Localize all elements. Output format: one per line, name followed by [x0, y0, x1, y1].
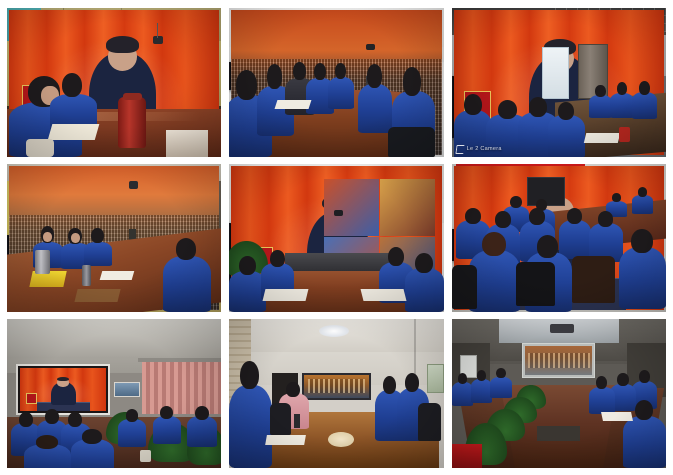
- table-papers: [100, 271, 135, 280]
- photo-5-scene: [229, 164, 443, 313]
- person-left-1: [452, 373, 473, 406]
- cup: [140, 450, 151, 462]
- screen-camera: [334, 210, 343, 216]
- person-back-4: [548, 102, 584, 157]
- photo-collage: Le 2 Camera 主体责任: [0, 0, 673, 475]
- microphone: [294, 414, 300, 427]
- photo-tile-3[interactable]: Le 2 Camera: [452, 8, 666, 157]
- photo-2-scene: [229, 8, 443, 157]
- person-left-2: [471, 370, 492, 403]
- photo-tile-5[interactable]: [229, 164, 443, 313]
- camera-mount: [157, 23, 158, 38]
- photo-tile-8[interactable]: [229, 319, 443, 468]
- photo-tile-6[interactable]: [452, 164, 666, 313]
- table-papers: [265, 435, 305, 445]
- table-tray: [74, 289, 120, 302]
- thermos-flask: [118, 97, 146, 148]
- photo-tile-7[interactable]: [7, 319, 221, 468]
- photo-7-scene: [7, 319, 221, 468]
- person-right-2: [405, 253, 444, 312]
- photo-8-scene: [229, 319, 443, 468]
- thermos-flask: [35, 250, 50, 274]
- chair-right: [388, 127, 435, 157]
- photo-4-scene: 主体责任: [7, 164, 221, 313]
- cup: [26, 139, 54, 157]
- wall-poster: [427, 364, 444, 393]
- person-far-3: [632, 81, 658, 120]
- person-left-5: [328, 63, 354, 109]
- tissue-box: [166, 130, 209, 157]
- curtain-rod: [138, 358, 222, 362]
- photo-3-scene: Le 2 Camera: [452, 8, 666, 157]
- person-right-1: [358, 64, 392, 132]
- person-right-front: [623, 400, 666, 468]
- photo-tile-1[interactable]: [7, 8, 221, 157]
- floor-carpet: [537, 426, 580, 441]
- ceiling: [7, 319, 221, 358]
- window: [542, 47, 570, 100]
- person-standing-left: [229, 361, 272, 468]
- broadcast-speaker: [20, 368, 106, 412]
- photo-tile-9[interactable]: [452, 319, 666, 468]
- table-papers-right: [361, 289, 407, 301]
- photo-tile-2[interactable]: [229, 8, 443, 157]
- photo-9-scene: [452, 319, 666, 468]
- table-papers-right: [601, 412, 633, 421]
- person-right-seated: [163, 238, 210, 312]
- wall-picture: [114, 382, 140, 397]
- person-far-1: [632, 187, 653, 214]
- water-bottle: [82, 265, 91, 286]
- ceiling-projector: [550, 324, 574, 333]
- notebook-paper: [48, 124, 100, 140]
- photo-tile-4[interactable]: 主体责任: [7, 164, 221, 313]
- projection-screen: [522, 343, 595, 378]
- person-seated-3: [84, 228, 112, 267]
- person-right-1: [118, 409, 146, 448]
- chair-2: [572, 256, 615, 304]
- person-right-3: [187, 406, 217, 448]
- projection-detail: [308, 379, 366, 392]
- chair-1: [516, 262, 555, 307]
- thermos-lid: [123, 93, 142, 100]
- person-far-1: [589, 85, 613, 118]
- chair-right: [418, 403, 442, 442]
- projected-image: [302, 373, 371, 400]
- table-flowers: [328, 432, 354, 447]
- person-far-2: [610, 82, 634, 118]
- photo-6-scene: [452, 164, 666, 313]
- person-front-1: [24, 435, 71, 468]
- person-front-2: [71, 429, 114, 468]
- screen-camera: [366, 44, 375, 50]
- table-papers-left: [262, 289, 308, 301]
- chair-3: [452, 265, 478, 310]
- person-right-2: [153, 406, 181, 445]
- table-papers: [583, 133, 620, 143]
- person-front-3: [619, 229, 666, 309]
- person-left-1: [229, 256, 265, 312]
- table-papers: [275, 100, 312, 109]
- photo-1-scene: [7, 8, 221, 157]
- projection-detail: [528, 353, 590, 367]
- person-left-3: [490, 368, 511, 398]
- chair-left: [270, 403, 291, 436]
- person-right-3: [589, 376, 615, 415]
- red-flag: [452, 444, 482, 468]
- screen-camera: [129, 181, 138, 188]
- red-cup: [619, 127, 630, 142]
- ceiling-camera: [153, 36, 164, 43]
